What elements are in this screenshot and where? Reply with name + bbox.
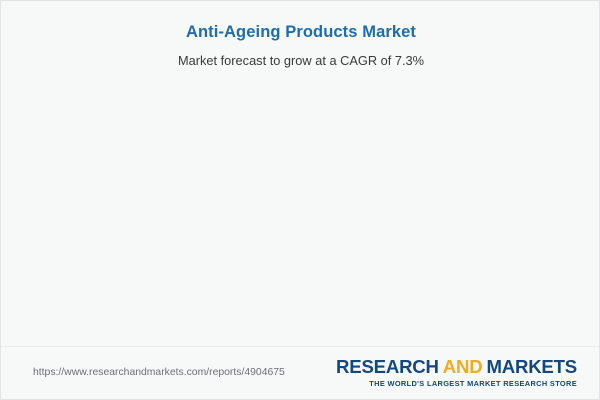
logo-tagline: THE WORLD'S LARGEST MARKET RESEARCH STOR… bbox=[336, 379, 577, 388]
chart-footer: https://www.researchandmarkets.com/repor… bbox=[1, 346, 600, 399]
logo-word-markets: MARKETS bbox=[486, 356, 577, 377]
logo-word-research: RESEARCH bbox=[336, 356, 439, 377]
chart-card: Anti-Ageing Products Market Market forec… bbox=[0, 0, 600, 400]
chart-plot-area: USD 37.36 Billion 2026 USD 57.14 Billion bbox=[1, 1, 600, 349]
logo-wordmark: RESEARCHANDMARKETS bbox=[336, 357, 577, 377]
research-and-markets-logo[interactable]: RESEARCHANDMARKETS THE WORLD'S LARGEST M… bbox=[336, 357, 577, 388]
report-url[interactable]: https://www.researchandmarkets.com/repor… bbox=[33, 367, 285, 378]
logo-word-and: AND bbox=[443, 356, 483, 377]
